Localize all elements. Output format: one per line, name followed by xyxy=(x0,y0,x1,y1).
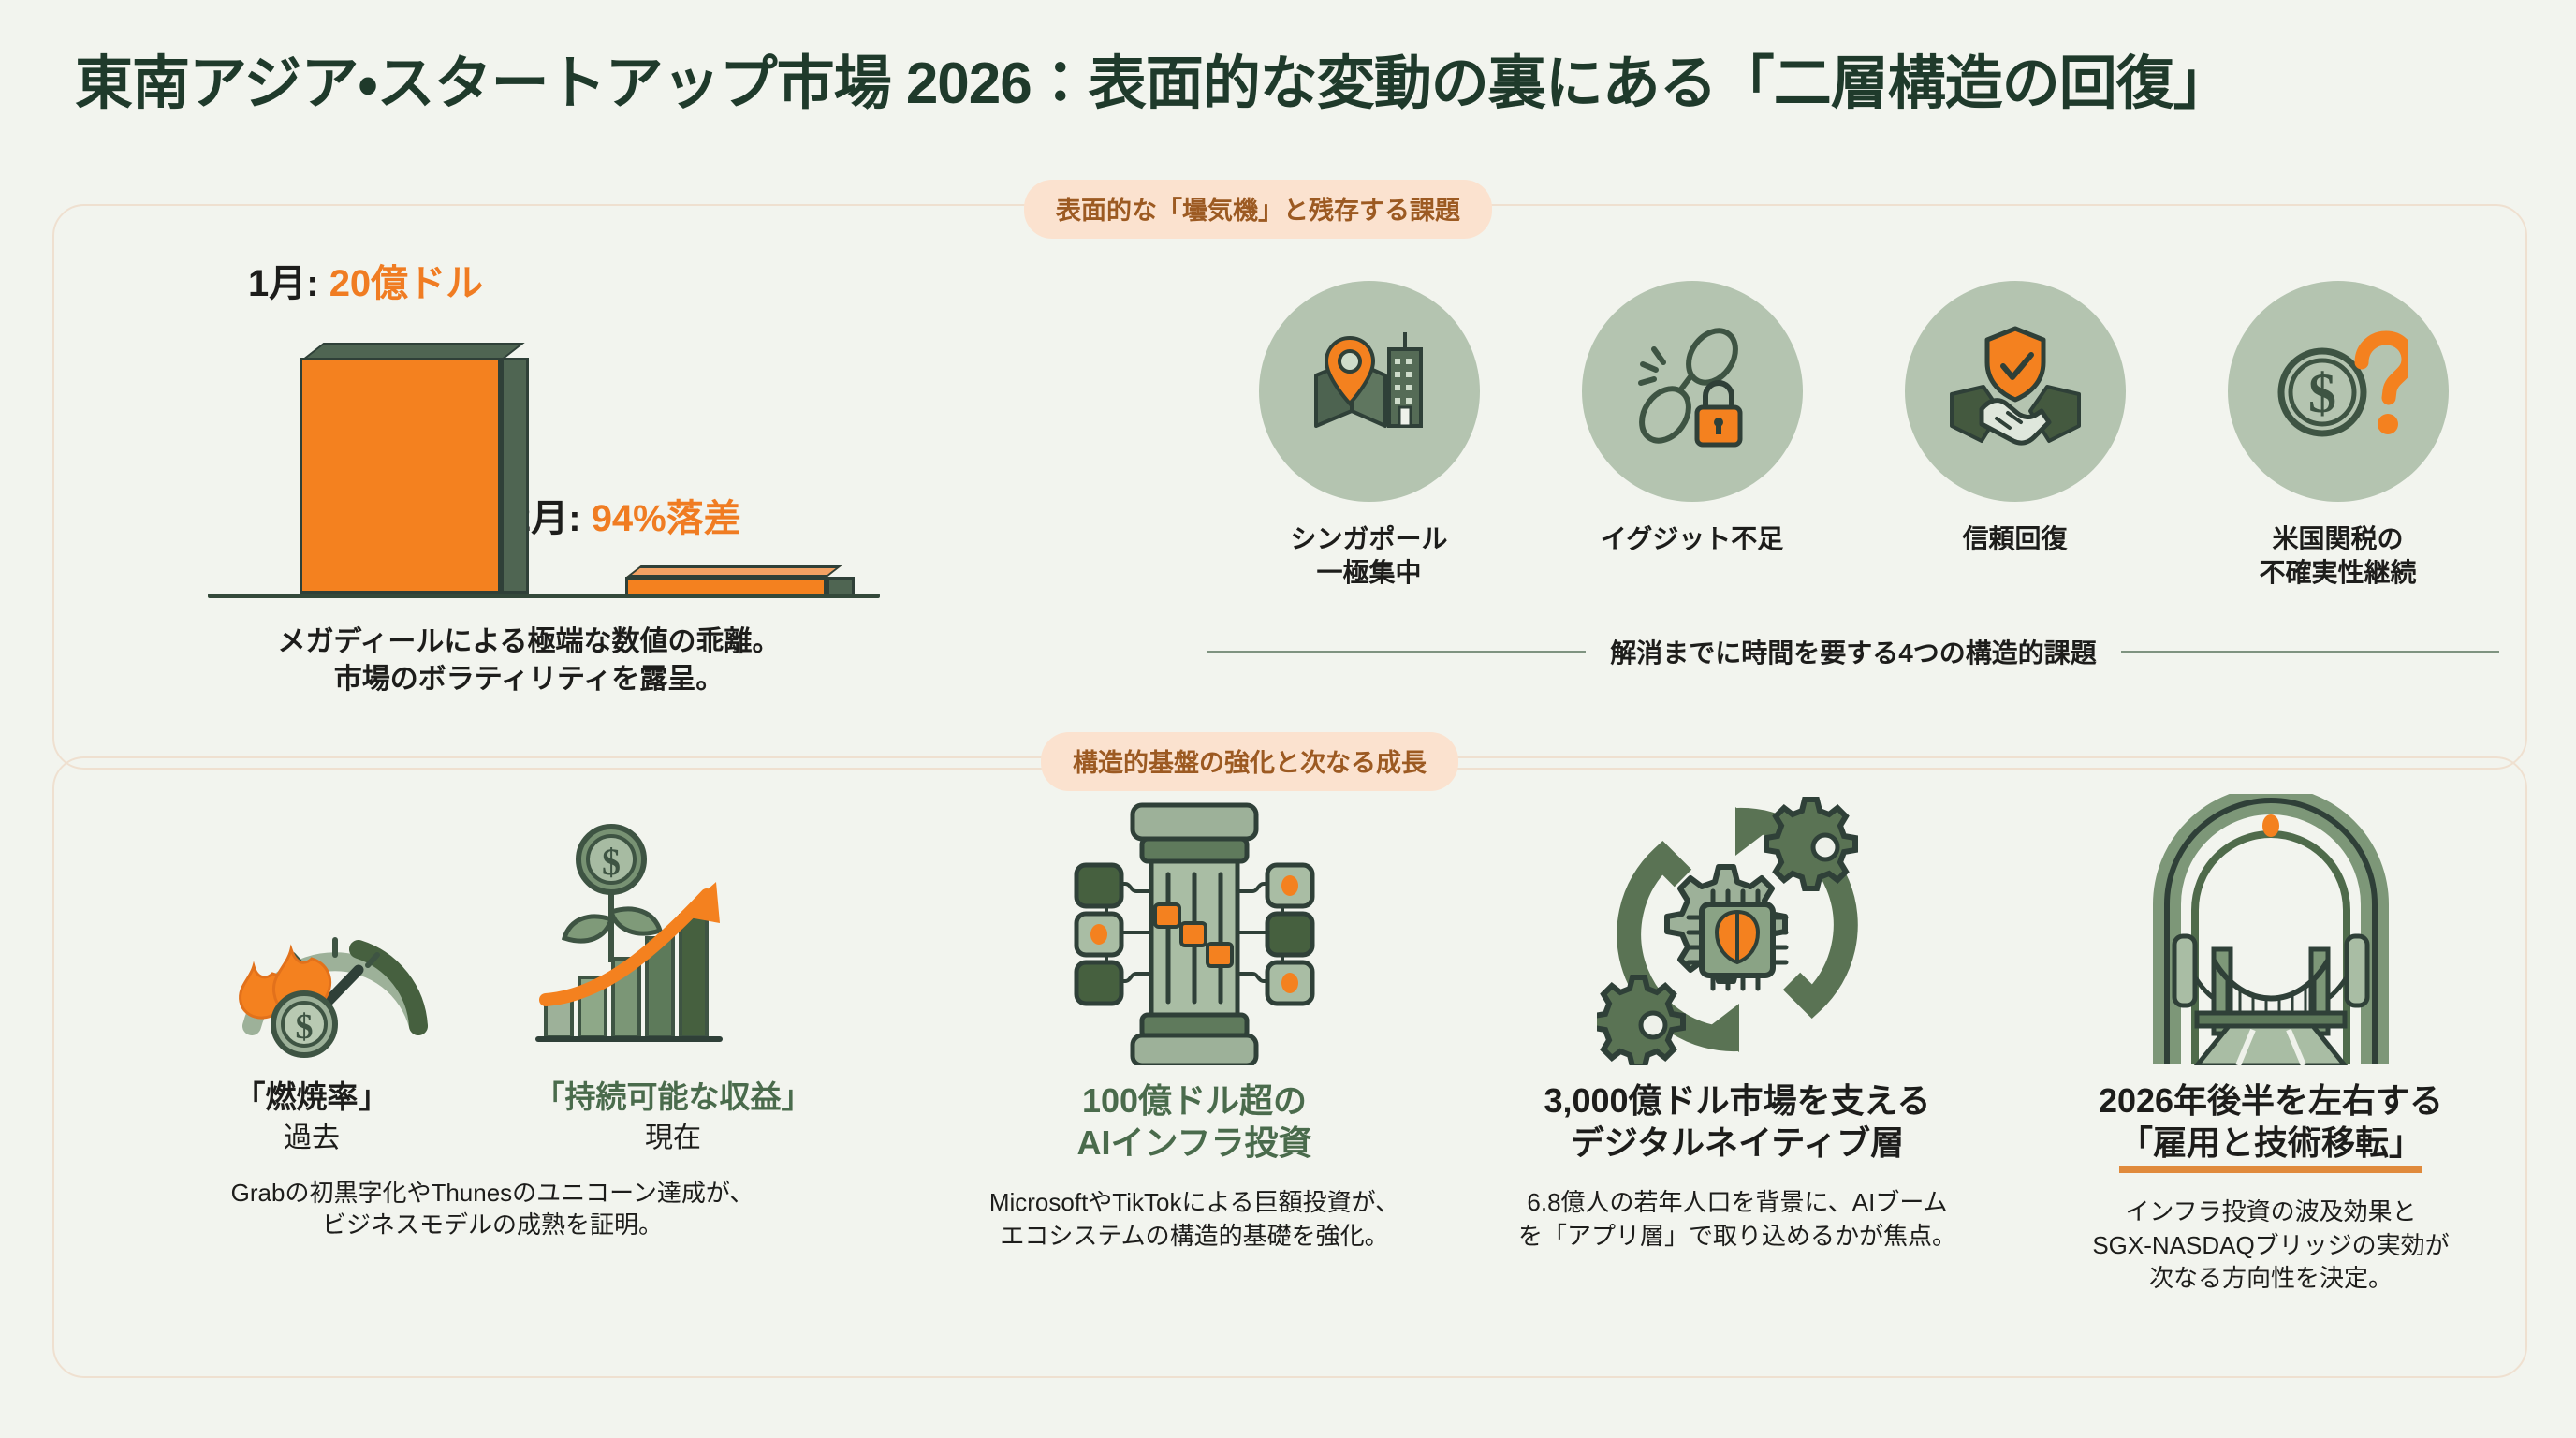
growth-card-ai-infrastructure: 100億ドル超の AIインフラ投資 MicrosoftやTikTokによる巨額投… xyxy=(932,785,1456,1253)
dollar-question-icon: $ xyxy=(2228,281,2449,502)
card-desc-digital: 6.8億人の若年人口を背景に、AIブーム を「アプリ層」で取り込めるかが焦点。 xyxy=(1518,1186,1956,1253)
divider-line-left xyxy=(1207,651,1586,653)
chart-label-january: 1月: 20億ドル xyxy=(248,253,483,307)
pair-description: Grabの初黒字化やThunesのユニコーン達成が、 ビジネスモデルの成熟を証明… xyxy=(118,1177,867,1242)
card-title-ai-line2: AIインフラ投資 xyxy=(1077,1123,1312,1165)
card-desc-jobs: インフラ投資の波及効果と SGX-NASDAQブリッジの実効が 次なる方向性を決… xyxy=(2092,1196,2449,1295)
ai-chip-cycle-icon xyxy=(1597,785,1878,1065)
chart-baseline-axis xyxy=(208,594,880,598)
issue-caption-trust: 信頼回復 xyxy=(1962,522,2067,556)
issue-caption-line1: イグジット不足 xyxy=(1601,522,1783,556)
data-pillar-icon xyxy=(1063,785,1325,1065)
card-title-digital: 3,000億ドル市場を支える デジタルネイティブ層 xyxy=(1544,1080,1930,1164)
growth-plant-chart-icon: $ xyxy=(533,822,767,1065)
card-title-jobs-line2: 「雇用と技術移転」 xyxy=(2119,1123,2422,1174)
bar-january-side-face xyxy=(501,358,529,594)
map-pin-building-icon xyxy=(1259,281,1480,502)
card-desc-ai-line2: エコシステムの構造的基礎を強化。 xyxy=(989,1220,1399,1253)
issue-item-exit: イグジット不足 xyxy=(1530,281,1853,591)
card-title-jobs: 2026年後半を左右する 「雇用と技術移転」 xyxy=(2099,1080,2443,1173)
burn-rate-gauge-icon: $ xyxy=(218,869,452,1065)
pair-title-present-main: 「持続可能な収益」 xyxy=(533,1078,813,1116)
pair-title-past-sub: 過去 xyxy=(171,1120,452,1156)
january-label-value: 20億ドル xyxy=(329,263,484,304)
bar-january-front-face xyxy=(300,358,501,594)
card-title-ai: 100億ドル超の AIインフラ投資 xyxy=(1077,1080,1312,1164)
top-section-badge: 表面的な「壜気機」と残存する課題 xyxy=(1024,180,1492,239)
card-desc-jobs-line2: SGX-NASDAQブリッジの実効が xyxy=(2092,1229,2449,1262)
issue-caption-tariff: 米国関税の 不確実性継続 xyxy=(2259,522,2416,591)
svg-text:$: $ xyxy=(296,1007,314,1047)
issue-caption-exit: イグジット不足 xyxy=(1601,522,1783,556)
pair-description-line1: Grabの初黒字化やThunesのユニコーン達成が、 xyxy=(118,1177,867,1210)
svg-text:$: $ xyxy=(602,841,621,883)
card-desc-jobs-line3: 次なる方向性を決定。 xyxy=(2092,1262,2449,1295)
pair-title-past: 「燃焼率」 過去 xyxy=(171,1078,452,1156)
chart-caption-line2: 市場のボラティリティを露呈。 xyxy=(159,661,899,698)
card-title-ai-line1: 100億ドル超の xyxy=(1077,1080,1312,1123)
growth-card-digital-natives: 3,000億ドル市場を支える デジタルネイティブ層 6.8億人の若年人口を背景に… xyxy=(1475,785,1999,1253)
chart-caption-line1: メガディールによる極端な数値の乖離。 xyxy=(159,624,899,661)
pair-description-line2: ビジネスモデルの成熟を証明。 xyxy=(118,1209,867,1241)
structural-issues-divider: 解消までに時間を要する4つの構造的課題 xyxy=(1207,633,2499,670)
handshake-shield-icon xyxy=(1905,281,2126,502)
bridge-arch-icon xyxy=(2135,785,2407,1065)
card-desc-jobs-line1: インフラ投資の波及効果と xyxy=(2092,1196,2449,1228)
funding-bar-chart: 1月: 20億ドル 2月: 94%落差 xyxy=(159,240,899,633)
chart-label-february: 2月: 94%落差 xyxy=(510,488,741,542)
issue-item-tariff: $ 米国関税の 不確実性継続 xyxy=(2176,281,2499,591)
pair-title-past-main: 「燃焼率」 xyxy=(171,1078,452,1116)
issue-caption-line2: 不確実性継続 xyxy=(2259,556,2416,590)
growth-pillars-row: $ $ xyxy=(52,785,2524,1365)
svg-text:$: $ xyxy=(2308,362,2336,424)
card-title-digital-line1: 3,000億ドル市場を支える xyxy=(1544,1080,1930,1123)
card-title-jobs-line1: 2026年後半を左右する xyxy=(2099,1080,2443,1123)
card-desc-ai: MicrosoftやTikTokによる巨額投資が、 エコシステムの構造的基礎を強… xyxy=(989,1186,1399,1253)
card-desc-digital-line1: 6.8億人の若年人口を背景に、AIブーム xyxy=(1518,1186,1956,1219)
issue-caption-line1: 信頼回復 xyxy=(1962,522,2067,556)
issue-caption-singapore: シンガポール 一極集中 xyxy=(1290,522,1447,591)
february-label-value: 94%落差 xyxy=(592,498,741,539)
issue-caption-line2: 一極集中 xyxy=(1290,556,1447,590)
chart-caption: メガディールによる極端な数値の乖離。 市場のボラティリティを露呈。 xyxy=(159,624,899,698)
page-title: 東南アジア・スタートアップ市場 2026：表面的な変動の裏にある「二層構造の回復… xyxy=(75,36,2231,120)
structural-issues-row: シンガポール 一極集中 xyxy=(1207,281,2499,591)
issue-item-singapore: シンガポール 一極集中 xyxy=(1207,281,1530,591)
issue-caption-line1: シンガポール xyxy=(1290,522,1447,556)
card-title-digital-line2: デジタルネイティブ層 xyxy=(1544,1123,1930,1165)
past-vs-present-pair: $ $ xyxy=(118,785,867,1241)
card-desc-ai-line1: MicrosoftやTikTokによる巨額投資が、 xyxy=(989,1186,1399,1219)
divider-line-right xyxy=(2121,651,2499,653)
infographic-canvas: 東南アジア・スタートアップ市場 2026：表面的な変動の裏にある「二層構造の回復… xyxy=(0,0,2576,1438)
issue-caption-line1: 米国関税の xyxy=(2259,522,2416,556)
pair-title-present: 「持続可能な収益」 現在 xyxy=(533,1078,813,1156)
issue-item-trust: 信頼回復 xyxy=(1853,281,2176,591)
card-desc-digital-line2: を「アプリ層」で取り込めるかが焦点。 xyxy=(1518,1220,1956,1253)
bottom-section-badge: 構造的基盤の強化と次なる成長 xyxy=(1041,732,1458,791)
bar-january xyxy=(300,343,501,594)
pair-title-present-sub: 現在 xyxy=(533,1120,813,1156)
growth-card-jobs-tech-transfer: 2026年後半を左右する 「雇用と技術移転」 インフラ投資の波及効果と SGX-… xyxy=(2009,785,2533,1295)
bar-february xyxy=(625,565,827,597)
broken-chain-lock-icon xyxy=(1582,281,1803,502)
january-label-key: 1月: xyxy=(248,263,329,304)
divider-caption: 解消までに時間を要する4つの構造的課題 xyxy=(1610,633,2097,670)
